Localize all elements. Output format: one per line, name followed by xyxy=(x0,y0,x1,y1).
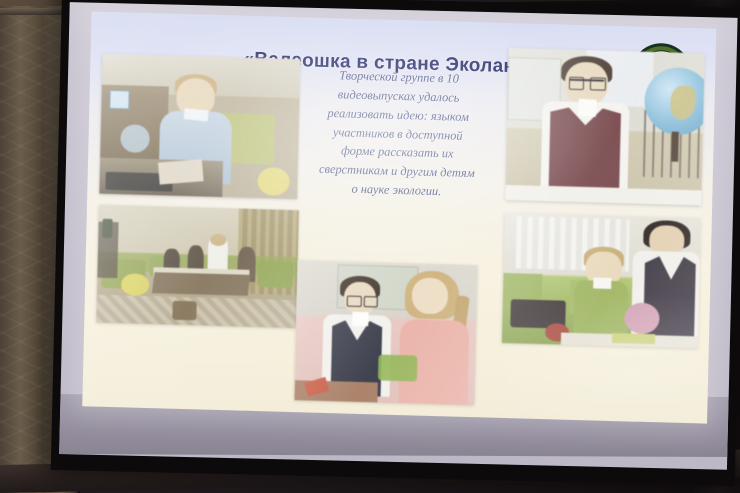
screen-surface: VALEO ВАЛЕОЛОГИЯ «Валеошка в стране Экол… xyxy=(59,2,737,470)
photo-top-right xyxy=(505,48,705,205)
screenshot-root: VALEO ВАЛЕОЛОГИЯ «Валеошка в стране Экол… xyxy=(0,0,740,493)
projection-screen: VALEO ВАЛЕОЛОГИЯ «Валеошка в стране Экол… xyxy=(50,0,740,493)
presentation-slide: VALEO ВАЛЕОЛОГИЯ «Валеошка в стране Экол… xyxy=(82,11,716,423)
photo-bottom-center xyxy=(294,260,477,405)
slide-body-text: Творческой группе в 10 видеовыпусках уда… xyxy=(283,65,512,203)
photo-top-left xyxy=(99,54,300,199)
photo-middle-left xyxy=(96,205,299,329)
photo-bottom-right xyxy=(502,213,701,348)
